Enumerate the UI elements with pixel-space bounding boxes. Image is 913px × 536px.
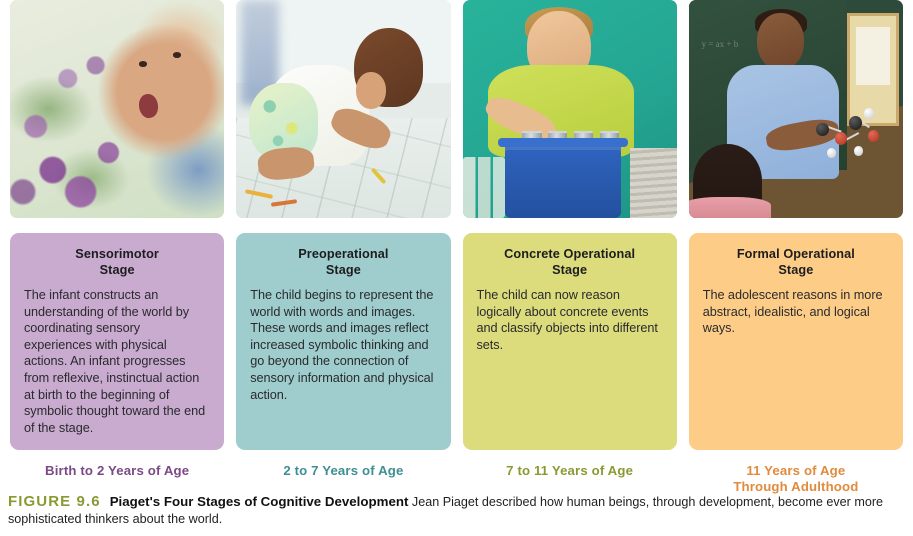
stage-title-line2: Stage	[477, 263, 663, 279]
stage-title-line1: Sensorimotor	[24, 247, 210, 263]
stage-columns: Sensorimotor Stage The infant constructs…	[0, 0, 913, 495]
stage-card-concrete-operational: Concrete Operational Stage The child can…	[463, 233, 677, 450]
infant-eye-right	[173, 52, 182, 58]
molecular-model	[804, 96, 890, 174]
blue-recycling-bin	[505, 144, 621, 218]
atom-oxygen	[868, 130, 879, 142]
stage-age-line1: 11 Years of Age	[689, 463, 903, 479]
stage-title-line1: Formal Operational	[703, 247, 889, 263]
stage-age-line1: Birth to 2 Years of Age	[10, 463, 224, 479]
stage-column-concrete-operational: Concrete Operational Stage The child can…	[463, 0, 677, 495]
stage-description: The child can now reason logically about…	[477, 287, 663, 353]
stage-description: The infant constructs an understanding o…	[24, 287, 210, 436]
boy-sorting-cans-recycling-bin-photo	[463, 0, 677, 218]
atom-hydrogen	[854, 146, 863, 155]
infant-smelling-purple-flowers-photo	[10, 0, 224, 218]
infant-eye-left	[139, 61, 148, 67]
atom-carbon	[849, 116, 862, 129]
adolescent-presenting-molecule-model-photo: y = ax + b f(x)	[689, 0, 903, 218]
stacked-newspapers	[630, 148, 677, 218]
stage-title-line2: Stage	[24, 263, 210, 279]
stage-description: The child begins to represent the world …	[250, 287, 436, 403]
stage-title-line1: Preoperational	[250, 247, 436, 263]
stage-card-sensorimotor: Sensorimotor Stage The infant constructs…	[10, 233, 224, 450]
stage-title-line2: Stage	[250, 263, 436, 279]
stage-age-range: Birth to 2 Years of Age	[10, 463, 224, 479]
stage-column-formal-operational: y = ax + b f(x)	[689, 0, 903, 495]
foreground-student-head	[693, 144, 762, 218]
stage-title: Preoperational Stage	[250, 247, 436, 278]
stage-age-range: 7 to 11 Years of Age	[463, 463, 677, 479]
figure-container: Sensorimotor Stage The infant constructs…	[0, 0, 913, 536]
child-drawing-with-crayons-photo	[236, 0, 450, 218]
atom-oxygen	[835, 132, 847, 145]
stage-age-range: 11 Years of Age Through Adulthood	[689, 463, 903, 495]
figure-number: FIGURE 9.6	[8, 493, 101, 510]
atom-hydrogen	[864, 108, 873, 118]
stage-title: Sensorimotor Stage	[24, 247, 210, 278]
stage-card-preoperational: Preoperational Stage The child begins to…	[236, 233, 450, 450]
glass-jars	[463, 157, 506, 218]
stage-description: The adolescent reasons in more abstract,…	[703, 287, 889, 337]
atom-hydrogen	[827, 148, 836, 158]
figure-caption: FIGURE 9.6Piaget's Four Stages of Cognit…	[0, 494, 913, 527]
stage-card-formal-operational: Formal Operational Stage The adolescent …	[689, 233, 903, 450]
adolescent-head	[757, 13, 804, 70]
stage-age-line2: Through Adulthood	[689, 479, 903, 495]
stage-title-line2: Stage	[703, 263, 889, 279]
stage-title-line1: Concrete Operational	[477, 247, 663, 263]
chalkboard-equation-1: y = ax + b	[702, 39, 739, 49]
stage-column-preoperational: Preoperational Stage The child begins to…	[236, 0, 450, 495]
stage-age-line1: 7 to 11 Years of Age	[463, 463, 677, 479]
stage-age-range: 2 to 7 Years of Age	[236, 463, 450, 479]
stage-age-line1: 2 to 7 Years of Age	[236, 463, 450, 479]
stage-column-sensorimotor: Sensorimotor Stage The infant constructs…	[10, 0, 224, 495]
stage-title: Formal Operational Stage	[703, 247, 889, 278]
figure-title: Piaget's Four Stages of Cognitive Develo…	[110, 494, 409, 509]
infant-mouth	[137, 93, 159, 119]
child-face	[356, 72, 386, 109]
stage-title: Concrete Operational Stage	[477, 247, 663, 278]
atom-carbon	[816, 123, 829, 136]
